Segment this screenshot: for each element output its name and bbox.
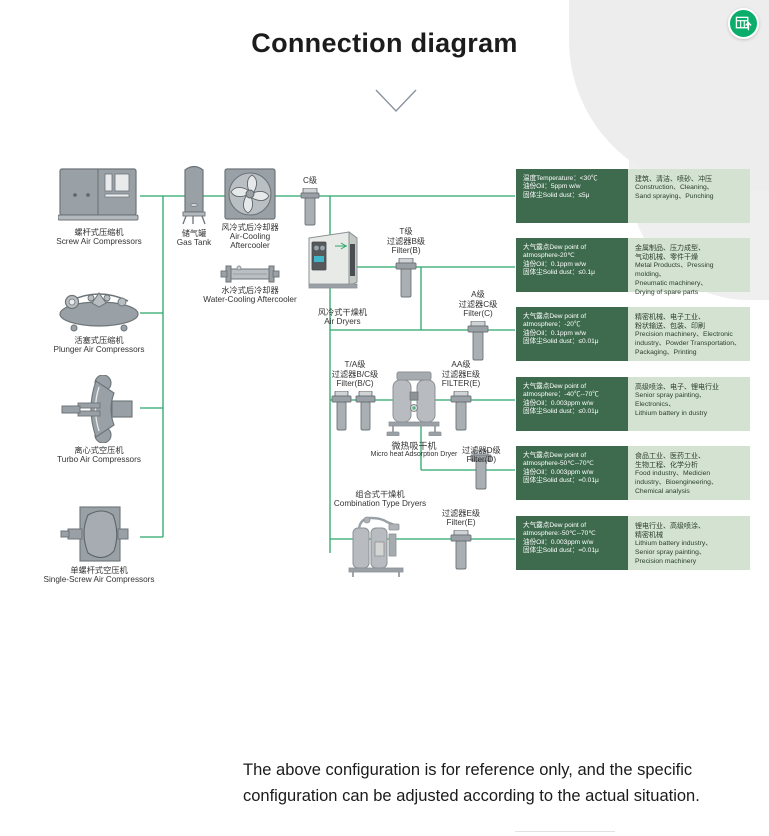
filter-d-grade: 过滤器D级 Filter(D) (470, 450, 492, 492)
equipment-label: 活塞式压缩机 Plunger Air Compressors (53, 336, 144, 354)
filter-bc-grade: T/A级 过滤器B/C级 Filter(B/C) (331, 391, 379, 433)
page-title: Connection diagram (0, 28, 769, 59)
footer-divider (515, 831, 615, 832)
equipment-label: 组合式干燥机 Combination Type Dryers (334, 490, 426, 508)
equipment-air-dryer: 风冷式干燥机 Air Dryers (305, 228, 361, 290)
equipment-turbo-air-compressor: 离心式空压机 Turbo Air Compressors (58, 375, 140, 443)
spec-row-4: 大气露点Dew point ofatmosphere：-40℃--70℃ 油份O… (516, 377, 750, 431)
equipment-combination-type-dryer: 组合式干燥机 Combination Type Dryers (345, 512, 415, 578)
spec-applications: 建筑、清洁、喷砂、冲压 Construction、Cleaning、 Sand … (628, 169, 750, 223)
equipment-label: 微热吸干机 Micro heat Adsorption Dryer (371, 441, 458, 459)
filter-e-grade: 过滤器E级 Filter(E) (450, 530, 472, 572)
spec-parameters: 大气露点Dew point ofatmosphere：-40℃--70℃ 油份O… (516, 377, 628, 431)
spec-parameters: 大气露点Dew point ofatmosphere:-50℃--70℃ 油份O… (516, 516, 628, 570)
spec-row-5: 大气露点Dew point ofatmosphere-50℃--70℃ 油份Oi… (516, 446, 750, 500)
equipment-label: 水冷式后冷却器 Water-Cooling Aftercooler (203, 286, 296, 304)
filter-label: T级 过滤器B级 Filter(B) (387, 227, 425, 255)
filter-label: 过滤器D级 Filter(D) (462, 446, 501, 464)
filter-label: C级 (303, 176, 317, 185)
spec-applications: 高级喷涂、电子、锂电行业 Senior spray painting、 Elec… (628, 377, 750, 431)
spec-parameters: 温度Temperature：<30℃油份Oil：5ppm w/w固体尘Solid… (516, 169, 628, 223)
filter-label: T/A级 过滤器B/C级 Filter(B/C) (332, 360, 378, 388)
filter-c-grade-a: A级 过滤器C级 Filter(C) (467, 321, 489, 363)
equipment-water-cooling-aftercooler: 水冷式后冷却器 Water-Cooling Aftercooler (219, 265, 281, 283)
spec-row-3: 大气露点Dew point ofatmosphere：-20℃ 油份Oil：0.… (516, 307, 750, 361)
equipment-gas-tank: 储气罐 Gas Tank (177, 162, 211, 226)
equipment-micro-heat-adsorption-dryer: 微热吸干机 Micro heat Adsorption Dryer (383, 370, 445, 436)
spec-applications: 精密机械、电子工业、 粉状输送、包装、印刷 Precision machiner… (628, 307, 750, 361)
spec-parameters: 大气露点Dew point ofatmosphere：-20℃ 油份Oil：0.… (516, 307, 628, 361)
equipment-label: 单螺杆式空压机 Single-Screw Air Compressors (43, 566, 154, 584)
equipment-single-screw-air-compressor: 单螺杆式空压机 Single-Screw Air Compressors (58, 505, 140, 563)
footer-note: The above configuration is for reference… (243, 758, 758, 809)
spec-parameters: 大气露点Dew point ofatmosphere-50℃--70℃ 油份Oi… (516, 446, 628, 500)
filter-b-grade: T级 过滤器B级 Filter(B) (395, 258, 417, 300)
filter-e-grade-aa: AA级 过滤器E级 FILTER(E) (450, 391, 472, 433)
spec-applications: 锂电行业、高级喷涂、 精密机械 Lithium battery industry… (628, 516, 750, 570)
spec-applications: 金属制品、压力成型、 气动机械、零件干燥 Metal Products、Pres… (628, 238, 750, 292)
spec-row-1: 温度Temperature：<30℃油份Oil：5ppm w/w固体尘Solid… (516, 169, 750, 223)
spec-parameters: 大气露点Dew point ofatmosphere-20℃ 油份Oil：0.1… (516, 238, 628, 292)
equipment-plunger-air-compressor: 活塞式压缩机 Plunger Air Compressors (58, 283, 140, 333)
spec-applications: 食品工业、医药工业、 生物工程、化学分析 Food industry、Medic… (628, 446, 750, 500)
equipment-air-cooling-aftercooler: 风冷式后冷却器 Air-Cooling Aftercooler (224, 168, 276, 220)
equipment-screw-air-compressor: 螺杆式压缩机 Screw Air Compressors (58, 167, 140, 225)
filter-label: A级 过滤器C级 Filter(C) (459, 290, 498, 318)
spec-row-2: 大气露点Dew point ofatmosphere-20℃ 油份Oil：0.1… (516, 238, 750, 292)
equipment-label: 离心式空压机 Turbo Air Compressors (57, 446, 141, 464)
equipment-label: 螺杆式压缩机 Screw Air Compressors (56, 228, 142, 246)
spec-row-6: 大气露点Dew point ofatmosphere:-50℃--70℃ 油份O… (516, 516, 750, 570)
equipment-label: 风冷式后冷却器 Air-Cooling Aftercooler (221, 223, 278, 251)
table-upload-icon[interactable] (728, 8, 759, 39)
filter-label: 过滤器E级 Filter(E) (442, 509, 480, 527)
equipment-label: 储气罐 Gas Tank (177, 229, 211, 247)
equipment-label: 风冷式干燥机 Air Dryers (318, 308, 367, 326)
filter-c-grade: C级 (300, 188, 320, 228)
chevron-down-icon (374, 88, 418, 114)
filter-label: AA级 过滤器E级 FILTER(E) (442, 360, 481, 388)
